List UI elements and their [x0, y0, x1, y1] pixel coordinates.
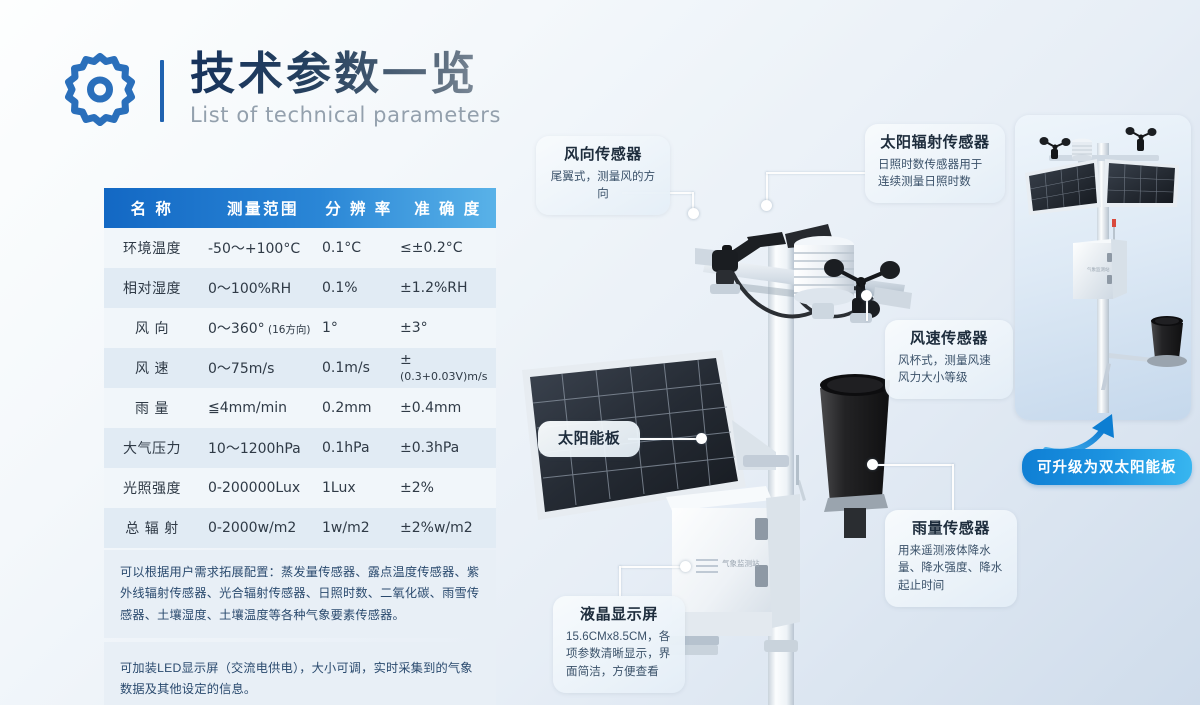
- table-row: 环境温度-50〜+100°C0.1°C≤±0.2°C: [104, 228, 496, 268]
- connector-dot-lcd: [680, 561, 691, 572]
- connector-dot-wind-direction: [688, 208, 699, 219]
- cell-range: -50〜+100°C: [200, 228, 318, 268]
- cell-name: 风 向: [104, 308, 200, 348]
- table-row: 光照强度0-200000Lux1Lux±2%: [104, 468, 496, 508]
- page-header: 技术参数一览 List of technical parameters: [62, 48, 501, 127]
- connector-dot-solar-radiation: [761, 200, 772, 211]
- callout-rain-gauge-sensor: 雨量传感器 用来遥测液体降水量、降水强度、降水起止时间: [885, 510, 1017, 607]
- table-row: 雨 量≦4mm/min0.2mm±0.4mm: [104, 388, 496, 428]
- cell-range: 0〜100%RH: [200, 268, 318, 308]
- callout-solar-radiation-sensor: 太阳辐射传感器 日照时数传感器用于连续测量日照时数: [865, 124, 1005, 203]
- connector-dot-wind-speed: [861, 290, 872, 301]
- cell-range: 0〜75m/s: [200, 348, 318, 388]
- cell-accuracy: ±1.2%RH: [396, 268, 496, 308]
- callout-title: 液晶显示屏: [566, 605, 672, 625]
- cell-resolution: 1°: [318, 308, 396, 348]
- page-title: 技术参数一览: [190, 50, 501, 97]
- cell-accuracy: ±0.3hPa: [396, 428, 496, 468]
- cell-resolution: 0.1°C: [318, 228, 396, 268]
- expansion-note: 可以根据用户需求拓展配置：蒸发量传感器、露点温度传感器、紫外线辐射传感器、光合辐…: [104, 550, 496, 638]
- callout-desc: 15.6CMx8.5CM，各项参数清晰显示，界面简洁，方便查看: [566, 629, 672, 682]
- cell-resolution: 0.2mm: [318, 388, 396, 428]
- cell-accuracy: ±(0.3+0.03V)m/s: [396, 348, 496, 388]
- cell-name: 总 辐 射: [104, 508, 200, 548]
- cell-resolution: 0.1m/s: [318, 348, 396, 388]
- led-display-note: 可加装LED显示屏（交流电供电），大小可调，实时采集到的气象数据及其他设定的信息…: [104, 642, 496, 705]
- cell-name: 大气压力: [104, 428, 200, 468]
- product-illustration: 气象监测站 风向传感器 尾翼式，测量风的方向 太阳辐射传感器 日照时数传感器用于…: [500, 0, 1200, 705]
- table-body: 环境温度-50〜+100°C0.1°C≤±0.2°C相对湿度0〜100%RH0.…: [104, 228, 496, 548]
- cell-name: 环境温度: [104, 228, 200, 268]
- cell-resolution: 0.1%: [318, 268, 396, 308]
- cell-accuracy: ±3°: [396, 308, 496, 348]
- callout-desc: 尾翼式，测量风的方向: [549, 169, 657, 205]
- cell-range: 0〜360° (16方向): [200, 308, 318, 348]
- callout-wind-speed-sensor: 风速传感器 风杯式，测量风速风力大小等级: [885, 320, 1013, 399]
- svg-text:气象监测站: 气象监测站: [1087, 266, 1110, 273]
- cell-accuracy: ±2%: [396, 468, 496, 508]
- callout-title: 太阳辐射传感器: [878, 133, 992, 153]
- callout-desc: 风杯式，测量风速风力大小等级: [898, 353, 1000, 389]
- cell-resolution: 0.1hPa: [318, 428, 396, 468]
- cell-accuracy-note: (0.3+0.03V)m/s: [400, 370, 487, 383]
- cell-accuracy: ≤±0.2°C: [396, 228, 496, 268]
- table-row: 大气压力10〜1200hPa0.1hPa±0.3hPa: [104, 428, 496, 468]
- col-header-resolution: 分 辨 率: [318, 188, 396, 228]
- table-row: 风 速0〜75m/s0.1m/s±(0.3+0.03V)m/s: [104, 348, 496, 388]
- gear-icon: [62, 50, 138, 126]
- dual-panel-station-image: 气象监测站: [1015, 115, 1191, 420]
- cell-accuracy: ±0.4mm: [396, 388, 496, 428]
- cell-range: 0-2000w/m2: [200, 508, 318, 548]
- inset-dual-solar-panel-preview: 气象监测站: [1015, 115, 1191, 420]
- cell-name: 风 速: [104, 348, 200, 388]
- cell-range: ≦4mm/min: [200, 388, 318, 428]
- callout-title: 风速传感器: [898, 329, 1000, 349]
- connector-dot-solar-panel: [696, 433, 707, 444]
- callout-desc: 用来遥测液体降水量、降水强度、降水起止时间: [898, 543, 1004, 596]
- col-header-range: 测量范围: [200, 188, 318, 228]
- callout-title: 雨量传感器: [898, 519, 1004, 539]
- cell-name: 雨 量: [104, 388, 200, 428]
- table-row: 总 辐 射0-2000w/m21w/m2±2%w/m2: [104, 508, 496, 548]
- spec-panel: 名 称 测量范围 分 辨 率 准 确 度 环境温度-50〜+100°C0.1°C…: [104, 188, 496, 705]
- cabinet-marking: 气象监测站: [722, 558, 760, 568]
- connector-elbow-rain: [952, 464, 954, 512]
- cell-resolution: 1w/m2: [318, 508, 396, 548]
- connector-elbow-solar-radiation: [766, 172, 866, 174]
- cell-range: 10〜1200hPa: [200, 428, 318, 468]
- label-text: 太阳能板: [558, 429, 620, 449]
- cell-name: 光照强度: [104, 468, 200, 508]
- specifications-table: 名 称 测量范围 分 辨 率 准 确 度 环境温度-50〜+100°C0.1°C…: [104, 188, 496, 548]
- cell-range-note: (16方向): [265, 324, 311, 336]
- table-row: 风 向0〜360° (16方向)1°±3°: [104, 308, 496, 348]
- label-solar-panel: 太阳能板: [538, 421, 640, 457]
- title-divider: [160, 60, 164, 122]
- callout-lcd-display: 液晶显示屏 15.6CMx8.5CM，各项参数清晰显示，界面简洁，方便查看: [553, 596, 685, 693]
- upgrade-badge: 可升级为双太阳能板: [1022, 449, 1192, 485]
- connector-elbow-lcd: [619, 566, 621, 598]
- connector-line-lcd: [619, 566, 685, 568]
- col-header-accuracy: 准 确 度: [396, 188, 496, 228]
- page-subtitle: List of technical parameters: [190, 103, 501, 127]
- table-header: 名 称 测量范围 分 辨 率 准 确 度: [104, 188, 496, 228]
- table-row: 相对湿度0〜100%RH0.1%±1.2%RH: [104, 268, 496, 308]
- cell-accuracy: ±2%w/m2: [396, 508, 496, 548]
- callout-desc: 日照时数传感器用于连续测量日照时数: [878, 157, 992, 193]
- connector-line-rain: [872, 464, 954, 466]
- callout-wind-direction-sensor: 风向传感器 尾翼式，测量风的方向: [536, 136, 670, 215]
- connector-dot-rain: [867, 459, 878, 470]
- col-header-name: 名 称: [104, 188, 200, 228]
- callout-title: 风向传感器: [549, 145, 657, 165]
- cell-resolution: 1Lux: [318, 468, 396, 508]
- cell-range: 0-200000Lux: [200, 468, 318, 508]
- cell-name: 相对湿度: [104, 268, 200, 308]
